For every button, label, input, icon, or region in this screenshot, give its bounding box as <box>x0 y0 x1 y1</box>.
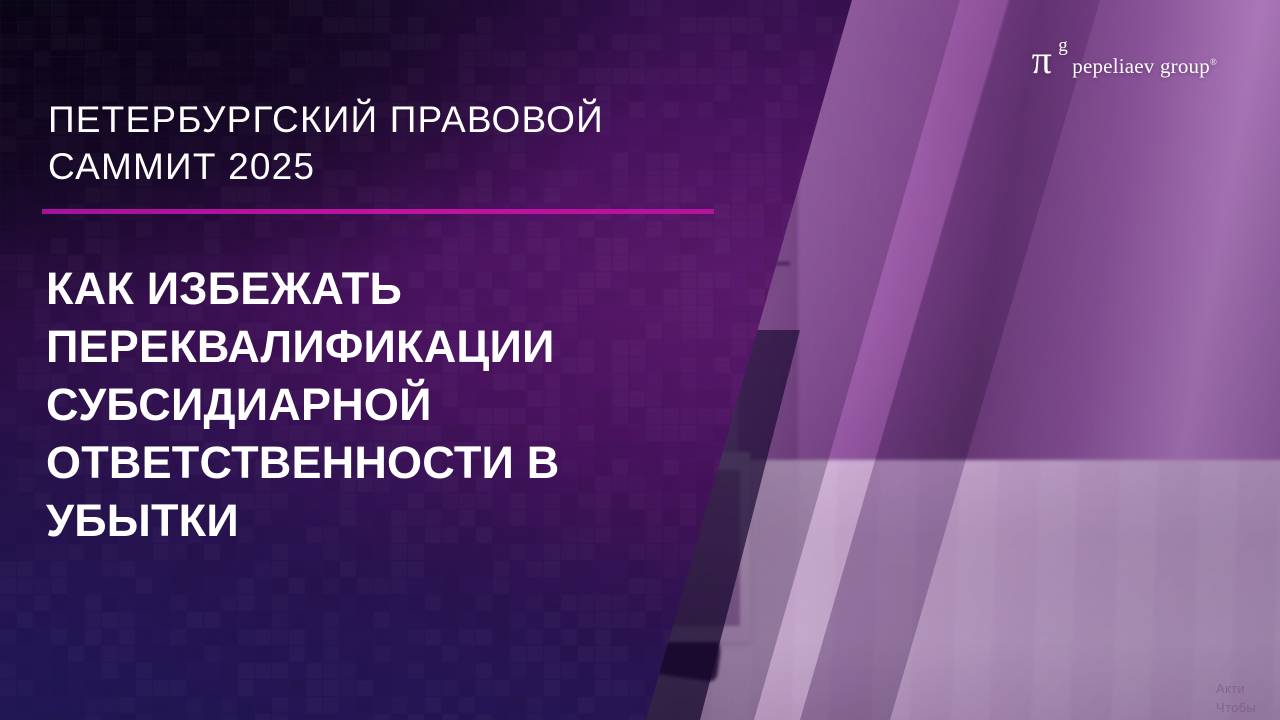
event-title: Петербургский правовой саммит 2025 <box>48 96 748 191</box>
watermark-line: Акти <box>1216 680 1274 699</box>
logo-wordmark: pepeliaev group® <box>1072 54 1217 79</box>
logo-wordmark-text: pepeliaev group <box>1072 54 1210 78</box>
accent-divider <box>42 209 714 214</box>
watermark-line: Чтобы <box>1216 699 1274 716</box>
video-watermark: Акти Чтобы <box>1216 680 1274 716</box>
presentation-slide: актики банкротства й защиты бизнеса пы <box>0 0 1280 720</box>
pi-superscript-glyph: g <box>1058 36 1068 55</box>
pi-glyph: π <box>1032 37 1052 82</box>
pepeliaev-group-logo: πg pepeliaev group® <box>1032 40 1217 80</box>
slide-headline: Как избежать переквалификации субсидиарн… <box>46 260 736 550</box>
registered-trademark-icon: ® <box>1210 57 1217 67</box>
pi-logo-icon: πg <box>1032 40 1068 80</box>
